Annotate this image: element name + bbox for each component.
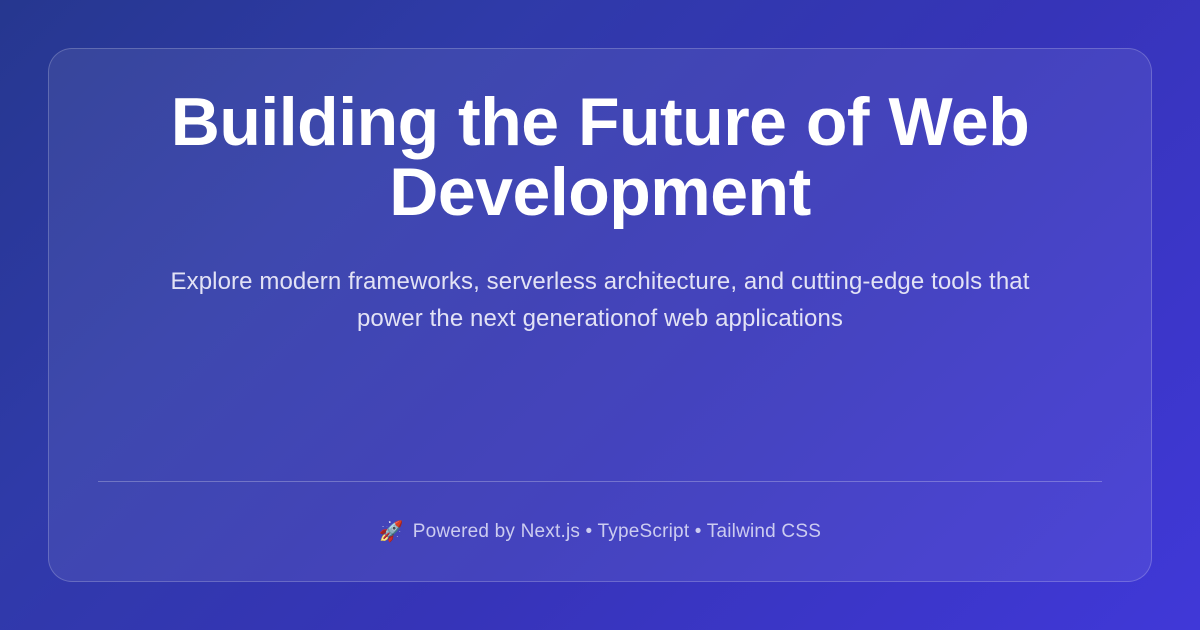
headline-block: Building the Future of Web Development E… [101,87,1099,337]
rocket-icon: 🚀 [379,522,404,542]
card-footer: 🚀 Powered by Next.js • TypeScript • Tail… [379,482,821,581]
og-image-card: Building the Future of Web Development E… [48,48,1152,582]
footer-tech-stack-label: Powered by Next.js • TypeScript • Tailwi… [413,521,821,543]
page-title: Building the Future of Web Development [160,87,1040,227]
page-subtitle: Explore modern frameworks, serverless ar… [165,263,1035,337]
